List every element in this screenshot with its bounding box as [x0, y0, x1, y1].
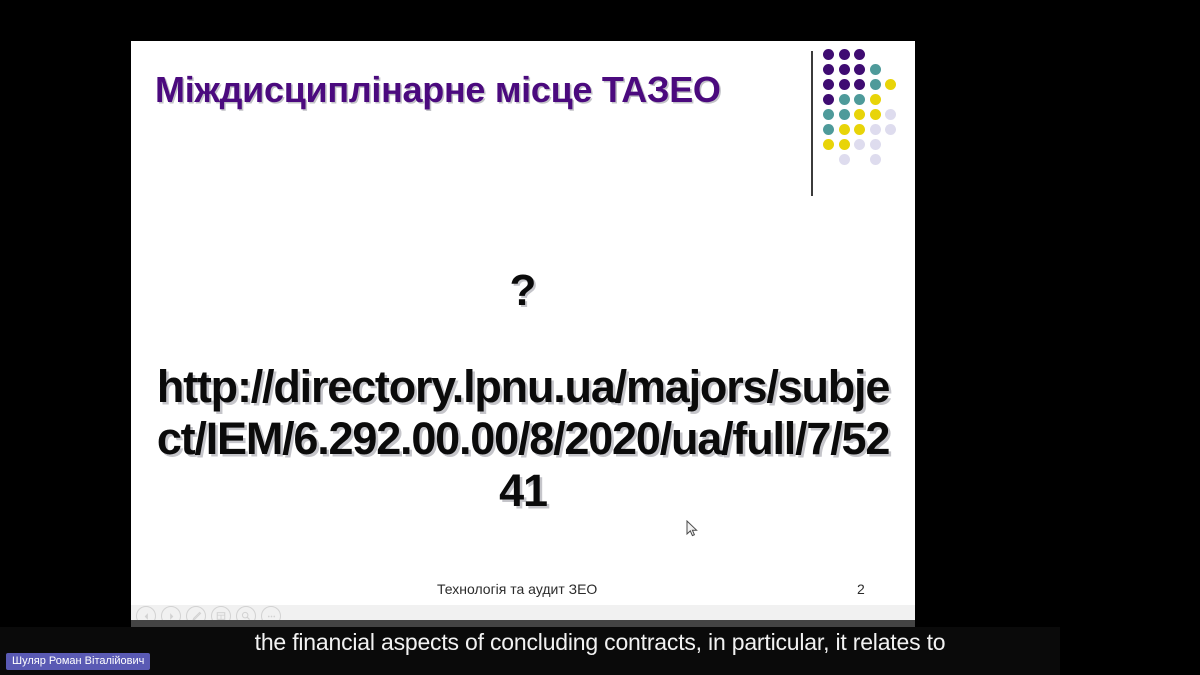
logo-dot [870, 154, 881, 165]
logo-dot [839, 64, 850, 75]
presentation-slide: Міждисциплінарне місце ТАЗЕО ? http://di… [131, 41, 915, 620]
logo-dot [885, 124, 896, 135]
logo-dot [870, 124, 881, 135]
logo-dot [854, 124, 865, 135]
slide-page-number: 2 [857, 581, 865, 597]
slide-footer-title: Технологія та аудит ЗЕО [437, 581, 597, 597]
logo-divider-rule [811, 51, 813, 196]
logo-dot [823, 109, 834, 120]
logo-dot [854, 79, 865, 90]
logo-dot [854, 94, 865, 105]
logo-dot [885, 109, 896, 120]
logo-dot [839, 109, 850, 120]
lpnu-dot-matrix-logo [823, 49, 909, 174]
logo-dot [854, 49, 865, 60]
logo-dot [823, 139, 834, 150]
logo-dot [854, 139, 865, 150]
caption-text: the financial aspects of concluding cont… [0, 629, 1200, 656]
logo-dot [823, 124, 834, 135]
participant-rail: Шуляр Роман Віталійович ЯА Ярмола Надія … [1060, 0, 1200, 675]
logo-dot [870, 139, 881, 150]
active-speaker-badge: Шуляр Роман Віталійович [6, 653, 150, 670]
logo-dot [823, 64, 834, 75]
slide-url-text: http://directory.lpnu.ua/majors/subject/… [145, 361, 901, 517]
logo-dot [823, 49, 834, 60]
logo-dot [839, 49, 850, 60]
logo-dot [854, 64, 865, 75]
logo-dot [839, 94, 850, 105]
logo-dot [870, 94, 881, 105]
logo-dot [839, 124, 850, 135]
mouse-pointer [686, 520, 699, 538]
logo-dot [823, 94, 834, 105]
logo-dot [854, 109, 865, 120]
logo-dot [823, 79, 834, 90]
logo-dot [870, 109, 881, 120]
logo-dot [870, 64, 881, 75]
logo-dot [839, 154, 850, 165]
question-mark-text: ? [131, 266, 915, 316]
screen-share-meeting-view: Міждисциплінарне місце ТАЗЕО ? http://di… [0, 0, 1200, 675]
logo-dot [870, 79, 881, 90]
logo-dot [839, 79, 850, 90]
logo-dot [885, 79, 896, 90]
slide-title: Міждисциплінарне місце ТАЗЕО [155, 69, 721, 111]
logo-dot [839, 139, 850, 150]
